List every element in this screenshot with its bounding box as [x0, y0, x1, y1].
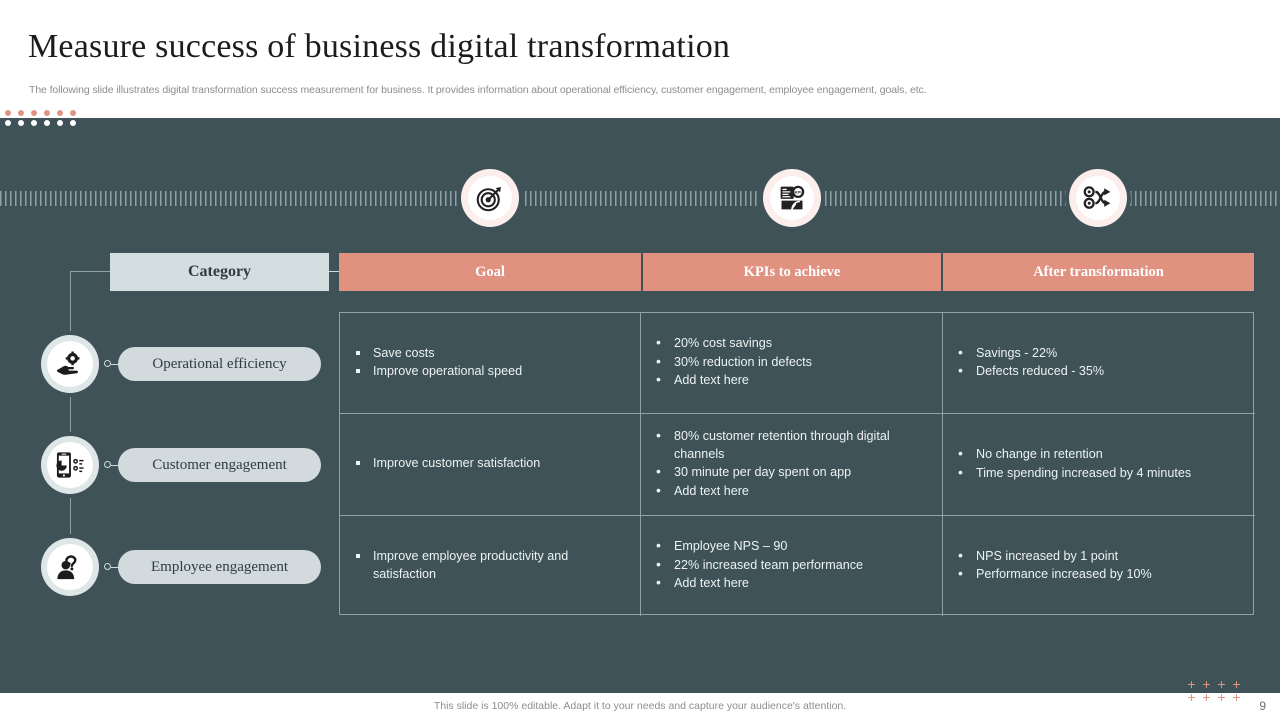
table-cell-kpis-row2: 80% customer retention through digital c…: [641, 414, 943, 516]
dot: [18, 120, 24, 126]
list-item: 80% customer retention through digital c…: [655, 428, 928, 463]
page-subtitle: The following slide illustrates digital …: [29, 84, 927, 96]
list: 80% customer retention through digital c…: [655, 428, 928, 501]
category-goal-connector: [329, 271, 339, 272]
table-header-category: Category: [110, 253, 329, 291]
list: Improve customer satisfaction: [354, 455, 626, 474]
table-cell-goal-row2: Improve customer satisfaction: [340, 414, 641, 516]
category-branch-line: [70, 271, 71, 567]
footer-note: This slide is 100% editable. Adapt it to…: [0, 700, 1280, 712]
slide-header: Measure success of business digital tran…: [0, 0, 1280, 118]
dot: [44, 120, 50, 126]
dot: [31, 120, 37, 126]
category-pill-customer-engagement[interactable]: Customer engagement: [118, 448, 321, 482]
page-number: 9: [1259, 699, 1266, 713]
dot: [70, 120, 76, 126]
badge-kpis: KPI: [763, 169, 821, 227]
category-header-connector: [70, 271, 110, 272]
list: Improve employee productivity and satisf…: [354, 548, 626, 584]
category-icon-customer-engagement[interactable]: [41, 436, 99, 494]
person-question-icon: [47, 544, 93, 590]
list: 20% cost savings 30% reduction in defect…: [655, 335, 928, 391]
list-item: Add text here: [655, 372, 928, 390]
mobile-customer-icon: [47, 442, 93, 488]
list-item: Improve customer satisfaction: [354, 455, 626, 473]
dot: [44, 110, 50, 116]
table-cell-kpis-row3: Employee NPS – 90 22% increased team per…: [641, 516, 943, 616]
svg-text:KPI: KPI: [795, 190, 802, 195]
category-pill-operational-efficiency[interactable]: Operational efficiency: [118, 347, 321, 381]
dot: [5, 120, 11, 126]
list-item: Add text here: [655, 483, 928, 501]
list-item: Improve operational speed: [354, 363, 626, 381]
list-item: 30% reduction in defects: [655, 354, 928, 372]
table-cell-kpis-row1: 20% cost savings 30% reduction in defect…: [641, 313, 943, 414]
list-item: Time spending increased by 4 minutes: [957, 465, 1241, 483]
decorative-dots-bottom: [5, 120, 76, 126]
list-item: Savings - 22%: [957, 345, 1241, 363]
list-item: Add text here: [655, 575, 928, 593]
page-title: Measure success of business digital tran…: [28, 28, 730, 66]
list-item: 22% increased team performance: [655, 557, 928, 575]
dot: [31, 110, 37, 116]
list-item: NPS increased by 1 point: [957, 548, 1241, 566]
dot: [57, 120, 63, 126]
connector-knob-2: [104, 461, 111, 468]
list-item: Performance increased by 10%: [957, 566, 1241, 584]
list-item: Employee NPS – 90: [655, 538, 928, 556]
category-icon-operational-efficiency[interactable]: [41, 335, 99, 393]
connector-knob-3: [104, 563, 111, 570]
table-header-after: After transformation: [943, 253, 1254, 291]
list-item: Improve employee productivity and satisf…: [354, 548, 626, 583]
mobile-customer-icon-svg: [55, 451, 85, 479]
target-icon: [468, 176, 512, 220]
list-item: Defects reduced - 35%: [957, 363, 1241, 381]
list: Employee NPS – 90 22% increased team per…: [655, 538, 928, 594]
list-item: No change in retention: [957, 446, 1241, 464]
dot: [57, 110, 63, 116]
list-item: 20% cost savings: [655, 335, 928, 353]
table-cell-after-row3: NPS increased by 1 point Performance inc…: [943, 516, 1255, 616]
transformation-shuffle-icon-svg: [1083, 185, 1113, 211]
list-item: 30 minute per day spent on app: [655, 464, 928, 482]
category-pill-employee-engagement[interactable]: Employee engagement: [118, 550, 321, 584]
list: No change in retention Time spending inc…: [957, 446, 1241, 483]
measurement-table: Save costs Improve operational speed 20%…: [339, 312, 1254, 615]
list: Savings - 22% Defects reduced - 35%: [957, 345, 1241, 382]
table-cell-after-row1: Savings - 22% Defects reduced - 35%: [943, 313, 1255, 414]
target-icon-svg: [476, 184, 504, 212]
dot: [70, 110, 76, 116]
badge-after-transformation: [1069, 169, 1127, 227]
dot: [5, 110, 11, 116]
table-cell-goal-row3: Improve employee productivity and satisf…: [340, 516, 641, 616]
list: NPS increased by 1 point Performance inc…: [957, 548, 1241, 585]
decorative-dots-top: [5, 110, 76, 116]
list-item: Save costs: [354, 345, 626, 363]
table-header-kpis: KPIs to achieve: [643, 253, 941, 291]
list: Save costs Improve operational speed: [354, 345, 626, 382]
table-header-goal: Goal: [339, 253, 641, 291]
table-cell-goal-row1: Save costs Improve operational speed: [340, 313, 641, 414]
table-cell-after-row2: No change in retention Time spending inc…: [943, 414, 1255, 516]
hand-gear-icon: [47, 341, 93, 387]
kpi-dashboard-icon: KPI: [770, 176, 814, 220]
person-question-icon-svg: [56, 553, 84, 581]
category-icon-employee-engagement[interactable]: [41, 538, 99, 596]
connector-knob-1: [104, 360, 111, 367]
dot: [18, 110, 24, 116]
badge-goal: [461, 169, 519, 227]
hand-gear-icon-svg: [55, 351, 85, 377]
transformation-shuffle-icon: [1076, 176, 1120, 220]
kpi-dashboard-icon-svg: KPI: [778, 184, 806, 212]
